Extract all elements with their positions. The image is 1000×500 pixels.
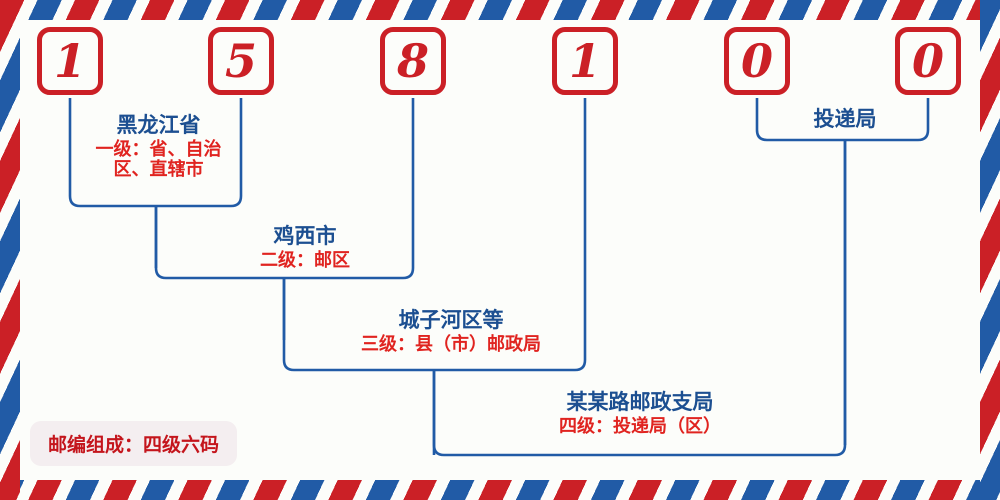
label-level-4-title: 某某路邮政支局 — [465, 390, 815, 414]
digit-glyph-4: 1 — [557, 32, 613, 90]
digit-box-2[interactable]: 5 — [208, 27, 274, 95]
digit-box-1[interactable]: 1 — [37, 27, 103, 95]
envelope-border-top — [0, 0, 1000, 20]
label-level-2: 鸡西市 二级：邮区 — [180, 224, 430, 271]
digit-glyph-1: 1 — [42, 32, 98, 90]
label-delivery-office-title: 投递局 — [770, 107, 920, 131]
digit-box-5[interactable]: 0 — [724, 27, 790, 95]
digit-glyph-2: 5 — [213, 32, 269, 90]
postal-composition-badge: 邮编组成：四级六码 — [30, 421, 237, 466]
digit-box-6[interactable]: 0 — [895, 27, 961, 95]
label-level-3: 城子河区等 三级：县（市）邮政局 — [306, 308, 596, 355]
label-level-4: 某某路邮政支局 四级：投递局（区） — [465, 390, 815, 437]
label-level-1: 黑龙江省 一级：省、自治区、直辖市 — [81, 113, 236, 180]
label-level-2-title: 鸡西市 — [180, 224, 430, 248]
digit-box-4[interactable]: 1 — [552, 27, 618, 95]
label-level-2-subtitle: 二级：邮区 — [180, 251, 430, 271]
envelope-border-bottom — [0, 480, 1000, 500]
digit-glyph-3: 8 — [385, 32, 441, 90]
envelope-border-right — [980, 0, 1000, 500]
digit-glyph-5: 0 — [729, 32, 785, 90]
label-level-1-title: 黑龙江省 — [81, 113, 236, 137]
envelope-border-left — [0, 0, 20, 500]
label-delivery-office: 投递局 — [770, 107, 920, 131]
digit-glyph-6: 0 — [900, 32, 956, 90]
label-level-4-subtitle: 四级：投递局（区） — [465, 417, 815, 437]
envelope-diagram: 1 5 8 1 0 0 黑龙江省 一级：省、自治区、直辖市 鸡西市 二级：邮区 … — [0, 0, 1000, 500]
digit-box-3[interactable]: 8 — [380, 27, 446, 95]
label-level-3-title: 城子河区等 — [306, 308, 596, 332]
label-level-1-subtitle: 一级：省、自治区、直辖市 — [84, 140, 234, 180]
label-level-3-subtitle: 三级：县（市）邮政局 — [306, 335, 596, 355]
